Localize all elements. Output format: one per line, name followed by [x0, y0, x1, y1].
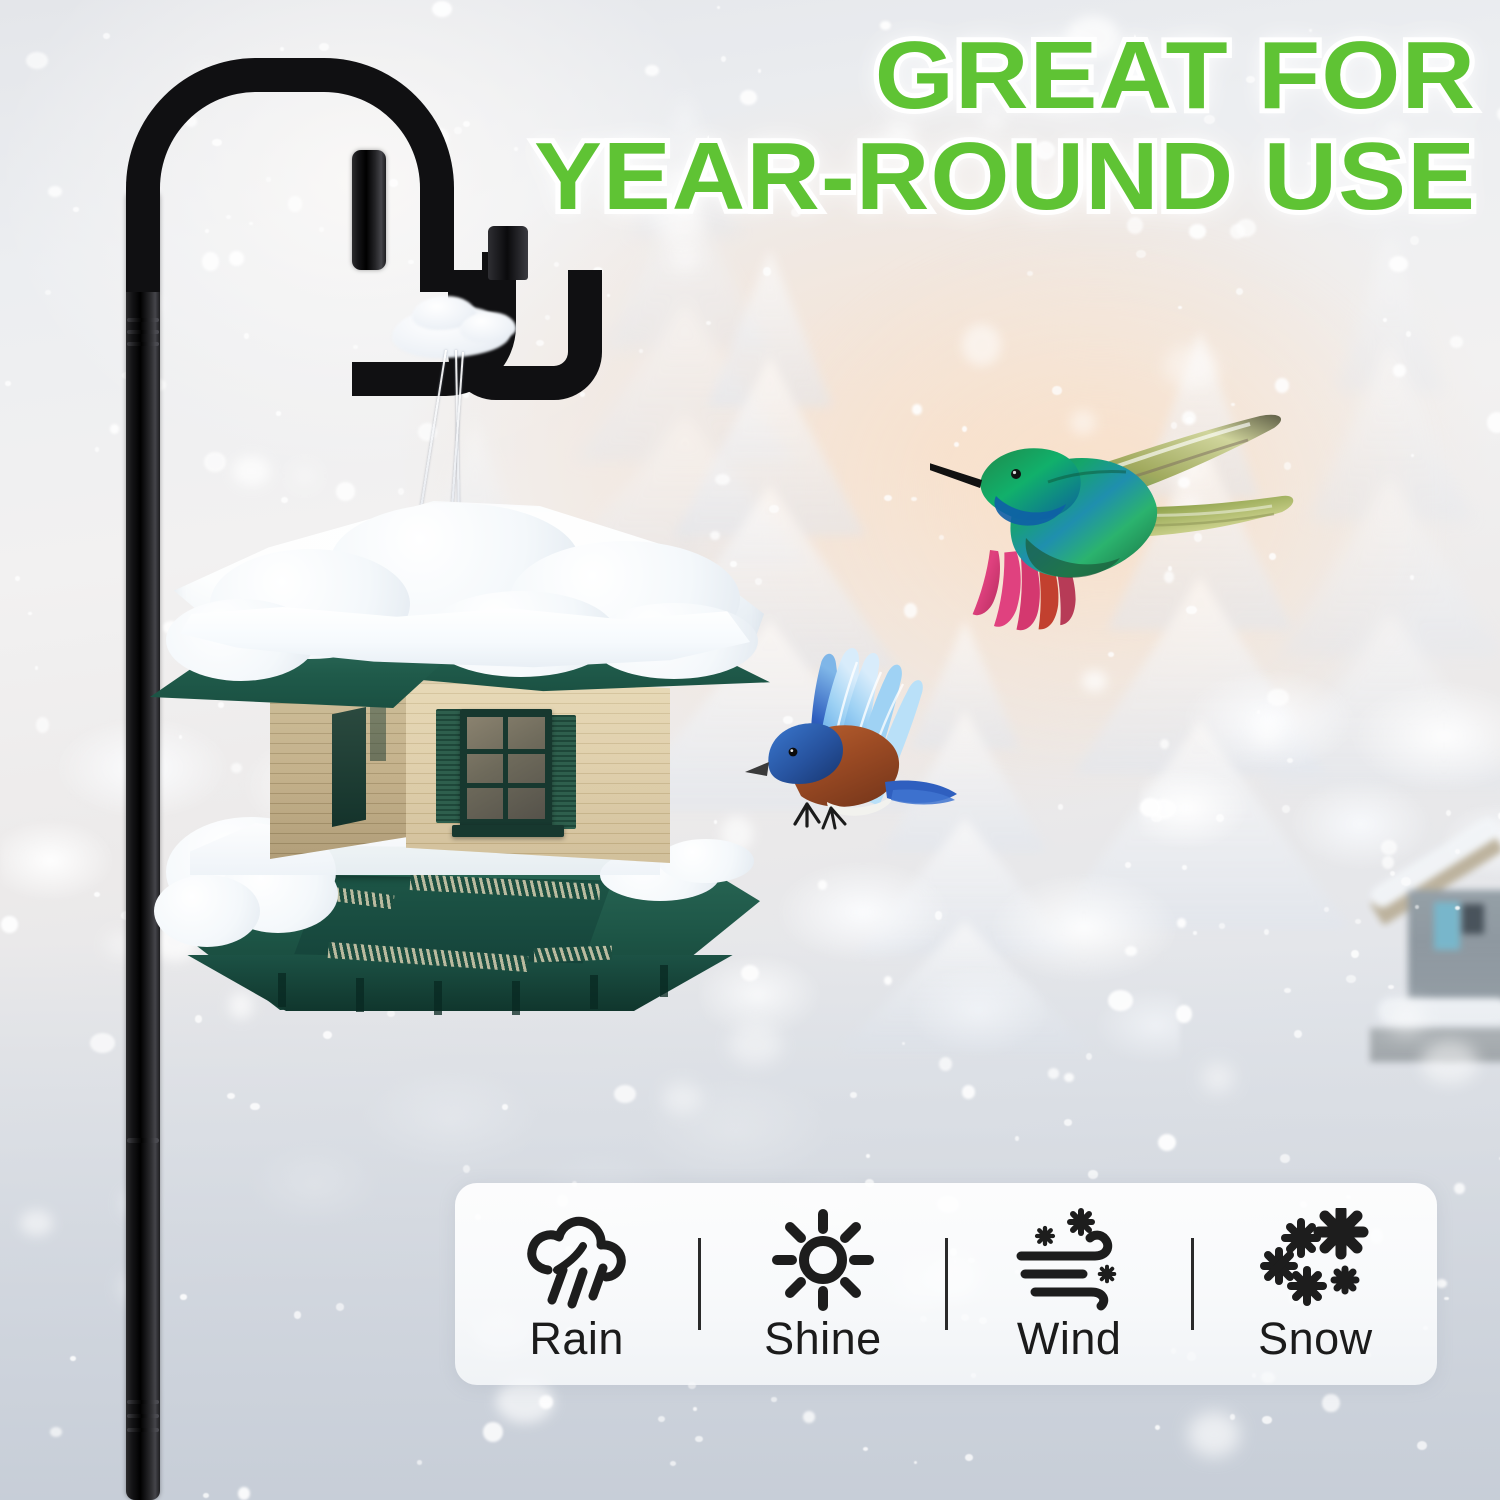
pole-joint-rib: [127, 318, 159, 322]
headline-line-1: GREAT FOR: [458, 26, 1476, 127]
snow-flake: [962, 1085, 975, 1099]
tray-rib: [434, 981, 442, 1015]
rain-cloud-icon: [521, 1208, 633, 1312]
snow-flake: [1264, 929, 1269, 935]
snow-flake: [965, 1454, 973, 1461]
feeder-seed-tray: [160, 845, 760, 1045]
tray-rib: [278, 973, 286, 1007]
snow-flake: [1282, 805, 1290, 813]
snow-flake: [803, 1411, 815, 1424]
wind-snow-icon: [1013, 1208, 1125, 1312]
feature-label: Snow: [1258, 1316, 1373, 1361]
snow-flake: [1125, 862, 1131, 869]
window-shutter-left: [436, 709, 462, 823]
feature-label: Wind: [1017, 1316, 1122, 1361]
window-shutter-right: [550, 715, 576, 829]
snowflakes-icon: [1259, 1208, 1371, 1312]
feeder-opening: [332, 707, 366, 827]
snow-flake: [1280, 1154, 1289, 1163]
bird-feeder: [150, 495, 770, 1055]
snow-flake: [1381, 840, 1397, 856]
snow-on-tray: [154, 875, 260, 947]
hook-end-cap: [488, 226, 528, 280]
feature-label: Rain: [529, 1316, 624, 1361]
snow-flake: [1390, 871, 1395, 876]
feature-rain[interactable]: Rain: [455, 1183, 698, 1385]
feature-label: Shine: [764, 1316, 882, 1361]
snow-flake: [1401, 877, 1411, 886]
snow-flake: [580, 392, 585, 397]
snow-flake: [1257, 710, 1260, 714]
tray-slot-grill: [534, 946, 612, 963]
snow-flake: [1421, 1041, 1478, 1085]
snow-flake: [614, 1085, 636, 1103]
tray-rib: [356, 978, 364, 1012]
snow-flake: [1164, 345, 1219, 388]
snow-flake: [662, 1082, 702, 1114]
snow-flake: [1389, 256, 1408, 272]
snow-flake: [771, 1397, 776, 1402]
snow-flake: [1455, 906, 1460, 911]
snow-flake: [1064, 1073, 1074, 1082]
snow-flake: [1351, 950, 1359, 958]
snow-flake: [1388, 1002, 1425, 1035]
feature-shine[interactable]: Shine: [701, 1183, 944, 1385]
hummingbird: [930, 400, 1310, 700]
tray-rib: [512, 981, 520, 1015]
product-marketing-image: GREAT FOR YEAR-ROUND USE Rain: [0, 0, 1500, 1500]
snow-flake: [706, 321, 711, 325]
feature-bar: Rain: [455, 1183, 1437, 1385]
snow-flake: [1346, 975, 1356, 983]
snow-flake: [1450, 336, 1463, 348]
pole-joint-rib: [127, 1138, 159, 1143]
snow-flake: [1382, 856, 1394, 869]
snow-flake: [1219, 923, 1226, 929]
snow-flake: [1287, 758, 1293, 763]
pole-joint-rib: [127, 1400, 159, 1404]
pole-joint-rib: [127, 342, 159, 346]
snow-flake: [1262, 1416, 1271, 1423]
snow-flake: [1188, 1412, 1240, 1457]
snow-flake: [1406, 331, 1411, 337]
tray-rib: [590, 975, 598, 1009]
feature-wind[interactable]: Wind: [948, 1183, 1191, 1385]
snow-flake: [715, 474, 730, 486]
snow-flake: [1324, 907, 1328, 912]
pole-joint-rib: [127, 330, 159, 334]
headline-line-2: YEAR-ROUND USE: [458, 127, 1476, 228]
feeder-roof: [150, 495, 770, 725]
bluebird: [735, 612, 985, 852]
snow-flake: [850, 1092, 856, 1098]
snow-flake: [1444, 1297, 1449, 1301]
snow-flake: [1446, 810, 1451, 816]
snow-flake: [693, 1407, 697, 1411]
snow-flake: [1193, 931, 1197, 934]
pole-joint-rib: [127, 1414, 159, 1418]
snow-flake: [671, 241, 698, 272]
snow-flake: [639, 349, 643, 353]
snow-flake: [1064, 1119, 1072, 1125]
snow-flake: [1284, 988, 1291, 994]
snow-flake: [912, 404, 922, 414]
headline: GREAT FOR YEAR-ROUND USE: [458, 26, 1476, 228]
snow-flake: [1322, 1394, 1339, 1412]
snow-flake: [866, 1154, 870, 1158]
snow-flake: [1088, 1170, 1099, 1178]
feature-snow[interactable]: Snow: [1194, 1183, 1437, 1385]
snow-flake: [1410, 236, 1418, 245]
sun-icon: [771, 1208, 875, 1312]
snow-flake: [763, 267, 771, 276]
snow-flake: [1058, 804, 1063, 809]
snow-flake: [1178, 306, 1182, 310]
snow-flake: [769, 505, 778, 513]
snow-flake: [1415, 905, 1419, 909]
pole-joint-rib: [127, 1428, 159, 1432]
snow-flake: [1275, 378, 1289, 392]
tray-rib: [660, 965, 668, 997]
window-mullion-horizontal: [467, 749, 545, 754]
snow-flake: [658, 1416, 665, 1422]
snow-flake: [935, 911, 943, 920]
window-sill: [452, 825, 564, 837]
snow-flake: [1052, 386, 1062, 395]
snow-flake: [1155, 1425, 1160, 1430]
snow-flake: [884, 495, 892, 501]
window-mullion-vertical: [503, 717, 508, 819]
window-mullion-horizontal: [467, 783, 545, 788]
snow-flake: [695, 1436, 703, 1443]
snow-flake: [962, 324, 1002, 366]
snow-flake: [1202, 1063, 1234, 1094]
